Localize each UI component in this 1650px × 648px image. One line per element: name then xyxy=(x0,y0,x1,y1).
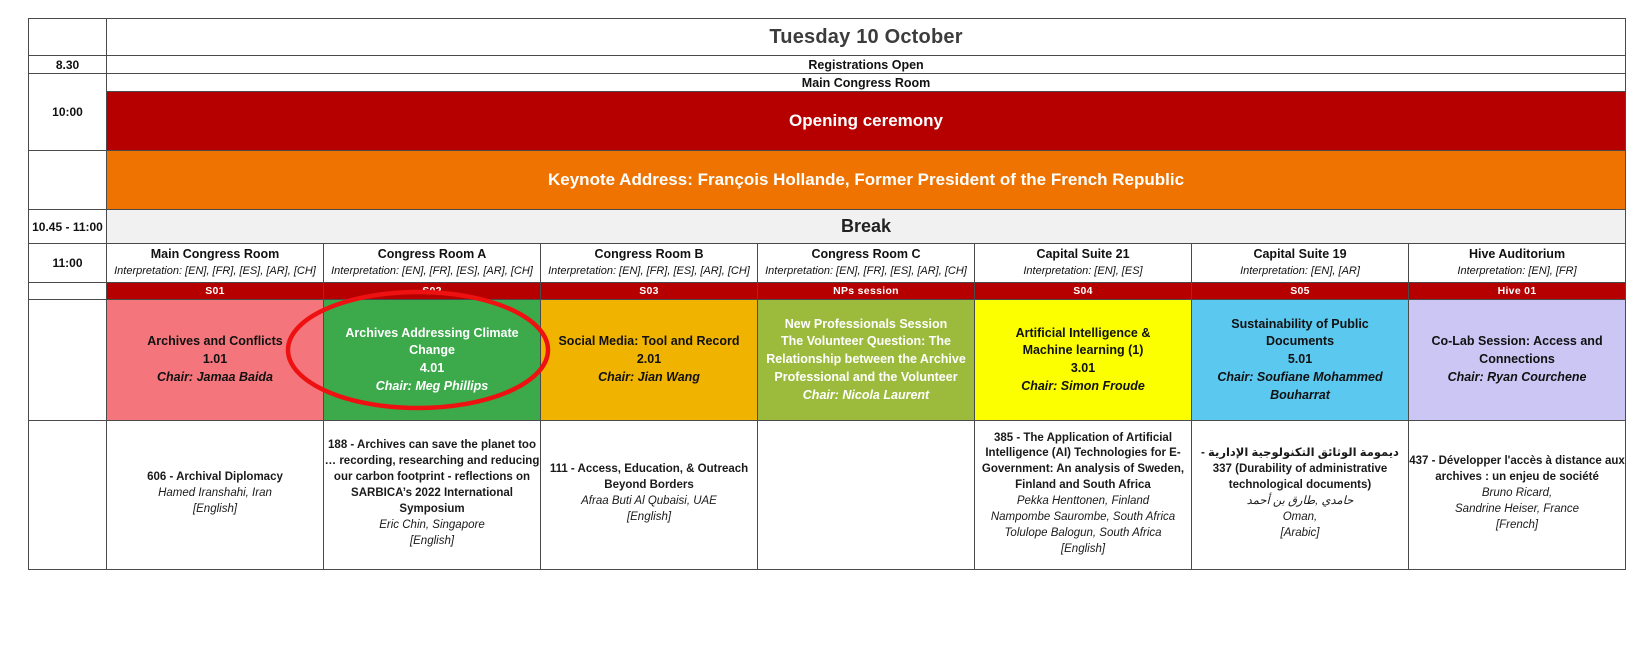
session-cell-s05[interactable]: Sustainability of PublicDocuments5.01Cha… xyxy=(1192,300,1409,421)
room-interpretation: Interpretation: [EN], [FR], [ES], [AR], … xyxy=(758,265,974,279)
paper-cell-hive01[interactable]: 437 - Développer l'accès à distance aux … xyxy=(1409,421,1626,570)
session-cell-hive01[interactable]: Co-Lab Session: Access andConnectionsCha… xyxy=(1409,300,1626,421)
schedule-sheet: Tuesday 10 October 8.30 Registrations Op… xyxy=(0,0,1650,648)
day-title: Tuesday 10 October xyxy=(107,19,1626,56)
paper-language: [French] xyxy=(1409,518,1625,534)
paper-language: [English] xyxy=(541,510,757,526)
session-title-line: Machine learning (1) xyxy=(975,342,1191,360)
room-header-congress-room-b: Congress Room B Interpretation: [EN], [F… xyxy=(541,244,758,283)
session-chair: Chair: Jamaa Baida xyxy=(107,369,323,387)
room-interpretation: Interpretation: [EN], [FR], [ES], [AR], … xyxy=(541,265,757,279)
registrations-row: 8.30 Registrations Open xyxy=(29,56,1626,74)
session-chair: Chair: Ryan Courchene xyxy=(1409,369,1625,387)
room-header-row: 11:00 Main Congress Room Interpretation:… xyxy=(29,244,1626,283)
paper-author: Eric Chin, Singapore xyxy=(324,518,540,534)
paper-cell-s03[interactable]: 111 - Access, Education, & Outreach Beyo… xyxy=(541,421,758,570)
session-title-line: Documents xyxy=(1192,333,1408,351)
room-header-hive-auditorium: Hive Auditorium Interpretation: [EN], [F… xyxy=(1409,244,1626,283)
time-cell-empty-codes xyxy=(29,283,107,300)
break-row: 10.45 - 11:00 Break xyxy=(29,210,1626,244)
room-header-main-congress-room: Main Congress Room Interpretation: [EN],… xyxy=(107,244,324,283)
paper-author: Tolulope Balogun, South Africa xyxy=(975,526,1191,542)
paper-title: 606 - Archival Diplomacy xyxy=(107,470,323,486)
session-cell-s02[interactable]: Archives Addressing Climate Change4.01Ch… xyxy=(324,300,541,421)
session-chair: Chair: Jian Wang xyxy=(541,369,757,387)
session-code-s04: S04 xyxy=(975,283,1192,300)
session-title-line: 1.01 xyxy=(107,351,323,369)
paper-author: Afraa Buti Al Qubaisi, UAE xyxy=(541,494,757,510)
room-name: Capital Suite 19 xyxy=(1192,247,1408,263)
paper-author: Bruno Ricard, xyxy=(1409,486,1625,502)
room-name: Congress Room B xyxy=(541,247,757,263)
paper-title: 111 - Access, Education, & Outreach Beyo… xyxy=(541,462,757,494)
main-room-label: Main Congress Room xyxy=(107,74,1626,92)
session-title-line: Archives Addressing Climate Change xyxy=(324,325,540,361)
room-header-congress-room-c: Congress Room C Interpretation: [EN], [F… xyxy=(758,244,975,283)
room-header-capital-suite-19: Capital Suite 19 Interpretation: [EN], [… xyxy=(1192,244,1409,283)
session-title-line: Professional and the Volunteer xyxy=(758,369,974,387)
room-name: Main Congress Room xyxy=(107,247,323,263)
room-header-capital-suite-21: Capital Suite 21 Interpretation: [EN], [… xyxy=(975,244,1192,283)
session-code-s01: S01 xyxy=(107,283,324,300)
time-cell-empty-sessions xyxy=(29,300,107,421)
time-registrations: 8.30 xyxy=(29,56,107,74)
time-ceremony: 10:00 xyxy=(29,74,107,151)
room-interpretation: Interpretation: [EN], [FR], [ES], [AR], … xyxy=(107,265,323,279)
paper-cell-s01[interactable]: 606 - Archival DiplomacyHamed Iranshahi,… xyxy=(107,421,324,570)
paper-entry: 437 - Développer l'accès à distance aux … xyxy=(1409,454,1625,533)
room-interpretation: Interpretation: [EN], [FR], [ES], [AR], … xyxy=(324,265,540,279)
opening-ceremony-row: Opening ceremony xyxy=(29,92,1626,151)
session-code-s02: S02 xyxy=(324,283,541,300)
session-code-s05: S05 xyxy=(1192,283,1409,300)
papers-row: 606 - Archival DiplomacyHamed Iranshahi,… xyxy=(29,421,1626,570)
session-title-line: New Professionals Session xyxy=(758,316,974,334)
session-title-line: 3.01 xyxy=(975,360,1191,378)
paper-author: Nampombe Saurombe, South Africa xyxy=(975,510,1191,526)
keynote-row: Keynote Address: François Hollande, Form… xyxy=(29,151,1626,210)
paper-entry: ديمومة الوثائق التكنولوجية الإدارية - 33… xyxy=(1192,446,1408,541)
paper-author: Oman, xyxy=(1192,510,1408,526)
paper-title: 385 - The Application of Artificial Inte… xyxy=(975,431,1191,494)
session-cell-nps[interactable]: New Professionals SessionThe Volunteer Q… xyxy=(758,300,975,421)
session-code-row: S01 S02 S03 NPs session S04 S05 Hive 01 xyxy=(29,283,1626,300)
paper-cell-s02[interactable]: 188 - Archives can save the planet too …… xyxy=(324,421,541,570)
session-title-line: 4.01 xyxy=(324,360,540,378)
registrations-label: Registrations Open xyxy=(107,56,1626,74)
paper-language: [English] xyxy=(324,534,540,550)
programme-table: Tuesday 10 October 8.30 Registrations Op… xyxy=(28,18,1626,570)
session-title-line: 2.01 xyxy=(541,351,757,369)
paper-entry: 606 - Archival DiplomacyHamed Iranshahi,… xyxy=(107,470,323,518)
session-code-s03: S03 xyxy=(541,283,758,300)
session-title-line: Social Media: Tool and Record xyxy=(541,333,757,351)
session-code-nps: NPs session xyxy=(758,283,975,300)
session-title-line: Archives and Conflicts xyxy=(107,333,323,351)
paper-entry: 385 - The Application of Artificial Inte… xyxy=(975,431,1191,558)
session-title-row: Archives and Conflicts1.01Chair: Jamaa B… xyxy=(29,300,1626,421)
room-interpretation: Interpretation: [EN], [AR] xyxy=(1192,265,1408,279)
session-chair: Chair: Simon Froude xyxy=(975,378,1191,396)
session-title-line: Co-Lab Session: Access and xyxy=(1409,333,1625,351)
opening-ceremony-banner: Opening ceremony xyxy=(107,92,1626,151)
room-name: Congress Room A xyxy=(324,247,540,263)
room-interpretation: Interpretation: [EN], [ES] xyxy=(975,265,1191,279)
paper-author: حامدي ,طارق بن أحمد xyxy=(1192,494,1408,510)
session-title-line: 5.01 xyxy=(1192,351,1408,369)
paper-cell-s04[interactable]: 385 - The Application of Artificial Inte… xyxy=(975,421,1192,570)
session-cell-s04[interactable]: Artificial Intelligence &Machine learnin… xyxy=(975,300,1192,421)
paper-language: [Arabic] xyxy=(1192,526,1408,542)
session-cell-s01[interactable]: Archives and Conflicts1.01Chair: Jamaa B… xyxy=(107,300,324,421)
paper-entry: 111 - Access, Education, & Outreach Beyo… xyxy=(541,462,757,525)
session-chair: Chair: Soufiane Mohammed Bouharrat xyxy=(1192,369,1408,405)
paper-author: Sandrine Heiser, France xyxy=(1409,502,1625,518)
paper-title: ديمومة الوثائق التكنولوجية الإدارية - 33… xyxy=(1192,446,1408,494)
time-cell-empty xyxy=(29,19,107,56)
paper-language: [English] xyxy=(975,542,1191,558)
paper-cell-s05[interactable]: ديمومة الوثائق التكنولوجية الإدارية - 33… xyxy=(1192,421,1409,570)
room-header-congress-room-a: Congress Room A Interpretation: [EN], [F… xyxy=(324,244,541,283)
session-cell-s03[interactable]: Social Media: Tool and Record2.01Chair: … xyxy=(541,300,758,421)
paper-cell-nps[interactable] xyxy=(758,421,975,570)
room-name: Capital Suite 21 xyxy=(975,247,1191,263)
session-chair: Chair: Nicola Laurent xyxy=(758,387,974,405)
break-label: Break xyxy=(107,210,1626,244)
session-title-line: Connections xyxy=(1409,351,1625,369)
time-sessions: 11:00 xyxy=(29,244,107,283)
keynote-banner: Keynote Address: François Hollande, Form… xyxy=(107,151,1626,210)
paper-title: 437 - Développer l'accès à distance aux … xyxy=(1409,454,1625,486)
day-title-row: Tuesday 10 October xyxy=(29,19,1626,56)
room-interpretation: Interpretation: [EN], [FR] xyxy=(1409,265,1625,279)
session-title-line: Sustainability of Public xyxy=(1192,316,1408,334)
session-code-hive01: Hive 01 xyxy=(1409,283,1626,300)
paper-title: 188 - Archives can save the planet too …… xyxy=(324,438,540,517)
room-name: Hive Auditorium xyxy=(1409,247,1625,263)
main-room-label-row: 10:00 Main Congress Room xyxy=(29,74,1626,92)
session-title-line: Artificial Intelligence & xyxy=(975,325,1191,343)
paper-entry: 188 - Archives can save the planet too …… xyxy=(324,438,540,549)
time-break: 10.45 - 11:00 xyxy=(29,210,107,244)
time-keynote-empty xyxy=(29,151,107,210)
paper-author: Hamed Iranshahi, Iran xyxy=(107,486,323,502)
session-title-line: Relationship between the Archive xyxy=(758,351,974,369)
time-cell-empty-papers xyxy=(29,421,107,570)
session-chair: Chair: Meg Phillips xyxy=(324,378,540,396)
room-name: Congress Room C xyxy=(758,247,974,263)
paper-author: Pekka Henttonen, Finland xyxy=(975,494,1191,510)
session-title-line: The Volunteer Question: The xyxy=(758,333,974,351)
paper-language: [English] xyxy=(107,502,323,518)
